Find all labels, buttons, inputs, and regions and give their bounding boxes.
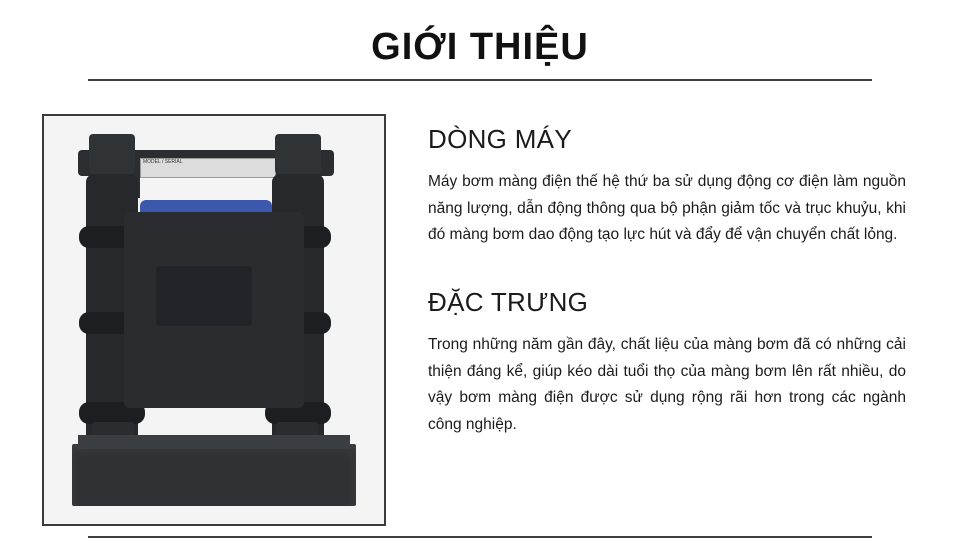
divider-top bbox=[88, 79, 872, 81]
pump-nameplate: MODEL / SERIAL bbox=[140, 158, 276, 178]
page-title: GIỚI THIỆU bbox=[0, 26, 960, 69]
pump-gearbox bbox=[156, 266, 252, 326]
pump-inlet-port bbox=[89, 134, 135, 174]
pump-photo: MODEL / SERIAL bbox=[44, 116, 384, 524]
divider-bottom bbox=[88, 536, 872, 538]
section-heading-1: DÒNG MÁY bbox=[428, 124, 906, 155]
pump-outlet-port bbox=[275, 134, 321, 174]
pump-base-plate bbox=[72, 444, 356, 506]
section-body-2: Trong những năm gần đây, chất liệu của m… bbox=[428, 332, 906, 439]
section-body-1: Máy bơm màng điện thế hệ thứ ba sử dụng … bbox=[428, 169, 906, 249]
slide: GIỚI THIỆU MODEL / SERIAL DÒNG bbox=[0, 0, 960, 560]
section-heading-2: ĐẶC TRƯNG bbox=[428, 287, 906, 318]
product-image-frame: MODEL / SERIAL bbox=[42, 114, 386, 526]
content-column: DÒNG MÁY Máy bơm màng điện thế hệ thứ ba… bbox=[428, 124, 906, 439]
